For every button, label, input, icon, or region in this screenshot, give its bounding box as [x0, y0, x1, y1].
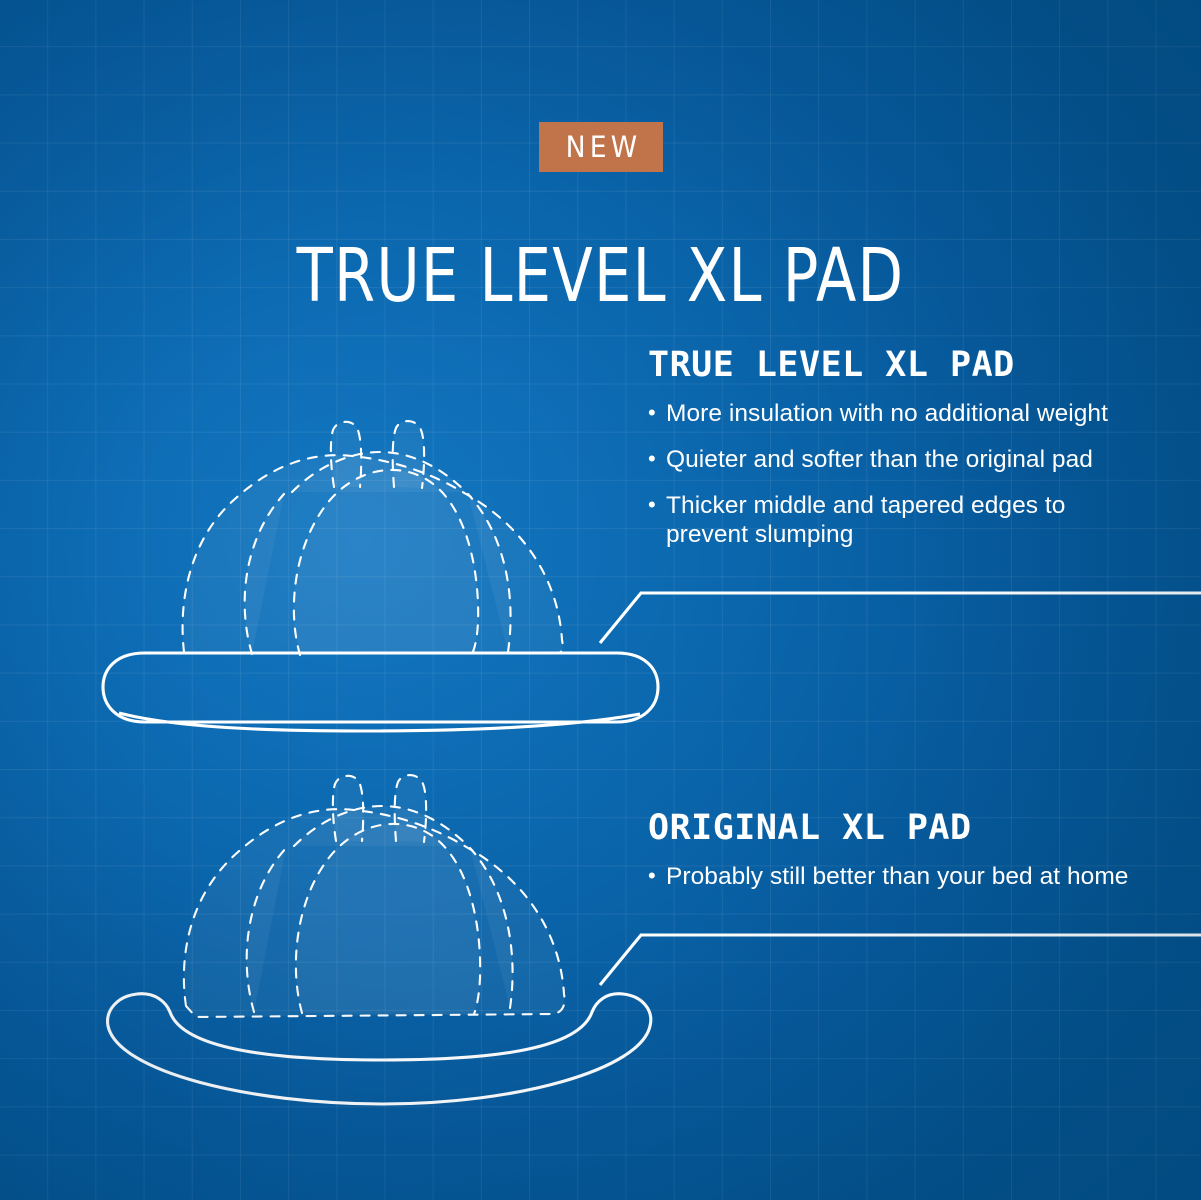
sleeping-bag-dashed-outline: [184, 775, 565, 1017]
section-true-level: TRUE LEVEL XL PAD More insulation with n…: [648, 345, 1168, 549]
feature-list-true-level: More insulation with no additional weigh…: [648, 399, 1168, 549]
line-art-layer: [0, 0, 1201, 1200]
sleeping-pad-outline: [108, 994, 651, 1104]
feature-list-original: Probably still better than your bed at h…: [648, 862, 1168, 891]
list-item: Probably still better than your bed at h…: [648, 862, 1168, 891]
list-item: Thicker middle and tapered edges to prev…: [648, 491, 1066, 549]
sleeping-pad-outline: [103, 653, 658, 731]
list-item: More insulation with no additional weigh…: [648, 399, 1168, 428]
new-badge-label: NEW: [561, 130, 641, 164]
list-item: Quieter and softer than the original pad: [648, 445, 1168, 474]
section-heading-true-level: TRUE LEVEL XL PAD: [648, 345, 1168, 385]
blueprint-grid: [0, 0, 1201, 1200]
sleeping-bag-dashed-outline: [183, 421, 563, 655]
page-title: TRUE LEVEL XL PAD: [120, 233, 1081, 319]
infographic-canvas: NEW TRUE LEVEL XL PAD TRUE LEVEL XL PAD …: [0, 0, 1201, 1200]
section-original: ORIGINAL XL PAD Probably still better th…: [648, 808, 1168, 891]
callout-leader-line: [600, 593, 1201, 643]
section-heading-original: ORIGINAL XL PAD: [648, 808, 1168, 848]
vignette-overlay: [0, 0, 1201, 1200]
callout-leader-line: [600, 935, 1201, 985]
new-badge: NEW: [539, 122, 663, 172]
